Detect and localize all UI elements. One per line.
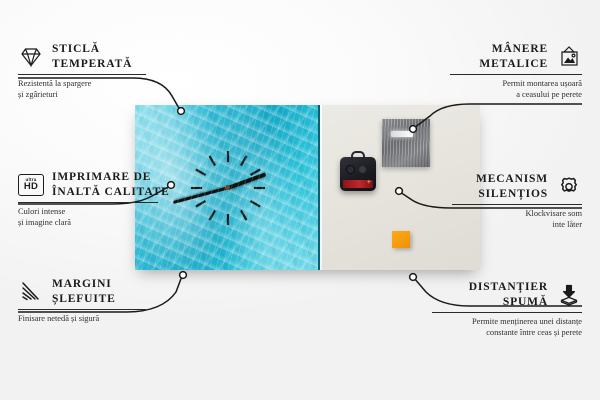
feature-title-line2: METALICE xyxy=(479,57,548,72)
feature-sub-line2: și imagine clară xyxy=(18,218,158,229)
feature-sub-line2: a ceasului pe perete xyxy=(450,90,582,101)
ultra-hd-badge-main: HD xyxy=(24,182,38,192)
feature-divider xyxy=(18,202,158,203)
feature-sub-line1: Klockvisare som xyxy=(452,209,582,220)
feature-polished-edges: MARGINI ȘLEFUITE Finisare netedă și sigu… xyxy=(18,277,146,325)
feature-sub-line1: Permit montarea ușoară xyxy=(450,79,582,90)
feature-sub-line2: inte låter xyxy=(452,220,582,231)
feature-title-line1: IMPRIMARE DE xyxy=(52,170,170,185)
leader-endpoint-tempered-glass xyxy=(178,108,185,115)
feature-title-line1: DISTANȚIER xyxy=(469,280,548,295)
ultra-hd-icon: ultra HD xyxy=(18,174,44,196)
feature-divider xyxy=(452,204,582,205)
feature-silent-mechanism: MECANISM SILENȚIOS Klockvisare som inte … xyxy=(452,172,582,230)
feature-tempered-glass: STICLĂ TEMPERATĂ Rezistentă la spargere … xyxy=(18,42,146,100)
gear-icon xyxy=(556,175,582,199)
feature-title-line1: MECANISM xyxy=(476,172,548,187)
feature-title-line1: STICLĂ xyxy=(52,42,132,57)
feature-high-quality-print: ultra HD IMPRIMARE DE ÎNALTĂ CALITATE Cu… xyxy=(18,170,158,228)
feature-sub-line1: Culori intense xyxy=(18,207,158,218)
leader-endpoint-mechanism xyxy=(396,188,403,195)
feature-title-line2: SPUMĂ xyxy=(469,295,548,310)
feature-metal-handles: MÂNERE METALICE Permit montarea ușoară a… xyxy=(450,42,582,100)
feature-divider xyxy=(432,312,582,313)
feature-title-line2: ȘLEFUITE xyxy=(52,292,116,307)
feature-title-line2: TEMPERATĂ xyxy=(52,57,132,72)
feature-divider xyxy=(18,309,146,310)
feature-sub-line2: și zgârieturi xyxy=(18,90,146,101)
picture-frame-icon xyxy=(556,45,582,69)
feature-sub-line2: constante între ceas și perete xyxy=(432,328,582,339)
press-down-icon xyxy=(556,283,582,307)
feature-sub-line1: Permite menținerea unei distanțe xyxy=(432,317,582,328)
diamond-icon xyxy=(18,45,44,69)
diagonal-lines-icon xyxy=(18,280,44,304)
feature-divider xyxy=(450,74,582,75)
leader-endpoint-handles xyxy=(410,126,417,133)
feature-sub-line1: Finisare netedă și sigură xyxy=(18,314,146,325)
leader-line-handles xyxy=(414,104,582,128)
feature-sub-line1: Rezistentă la spargere xyxy=(18,79,146,90)
feature-divider xyxy=(18,74,146,75)
infographic-canvas: STICLĂ TEMPERATĂ Rezistentă la spargere … xyxy=(0,0,600,400)
feature-title-line1: MARGINI xyxy=(52,277,116,292)
feature-title-line2: SILENȚIOS xyxy=(476,187,548,202)
feature-foam-spacer: DISTANȚIER SPUMĂ Permite menținerea unei… xyxy=(432,280,582,338)
feature-title-line2: ÎNALTĂ CALITATE xyxy=(52,185,170,200)
feature-title-line1: MÂNERE xyxy=(479,42,548,57)
leader-endpoint-spacer xyxy=(410,274,417,281)
leader-endpoint-edges xyxy=(180,272,187,279)
